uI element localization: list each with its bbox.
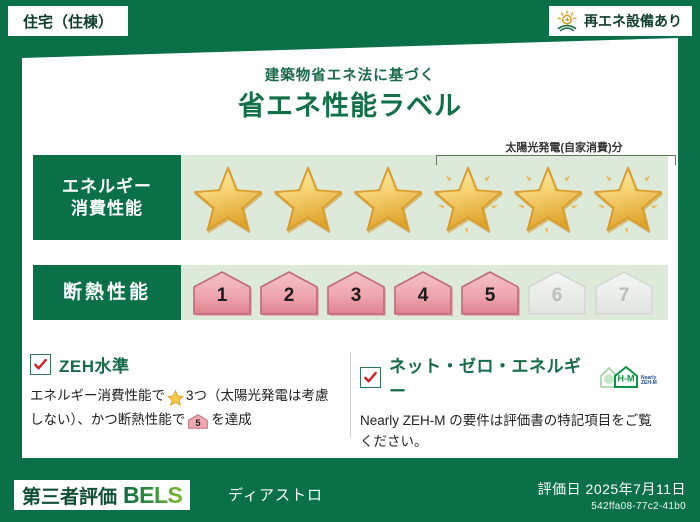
building-type-tag: 住宅（住棟）	[8, 6, 128, 36]
net-zero-heading: ネット・ゼロ・エネルギー	[389, 352, 588, 402]
insulation-level-house: 5	[457, 269, 523, 317]
zeh-standard-section: ZEH水準 エネルギー消費性能で 3つ（太陽光発電は考慮しない）、かつ断熱性能で…	[30, 352, 340, 434]
net-zero-heading-row: ネット・ゼロ・エネルギー H-M Nearly ZEH-M	[360, 352, 660, 402]
insulation-level-list: 1 2	[181, 265, 668, 320]
insulation-level-house: 4	[390, 269, 456, 317]
sun-icon	[555, 10, 579, 32]
zeh-m-logo-icon: H-M Nearly ZEH-M	[598, 364, 660, 390]
energy-label-line2: 消費性能	[71, 198, 143, 219]
check-icon	[33, 357, 48, 372]
insulation-level-house: 7	[591, 269, 657, 317]
insulation-levels-panel: 1 2	[181, 265, 668, 320]
third-party-label: 第三者評価	[22, 482, 117, 509]
energy-star	[349, 162, 427, 234]
energy-stars-panel: 太陽光発電(自家消費)分	[181, 155, 668, 240]
insulation-level-house: 2	[256, 269, 322, 317]
insulation-label-text: 断熱性能	[63, 281, 151, 305]
renewable-badge-label: 再エネ設備あり	[584, 11, 682, 31]
insulation-level-number: 1	[189, 286, 255, 305]
insulation-level-number: 3	[323, 286, 389, 305]
insulation-level-house: 6	[524, 269, 590, 317]
brand-name: ディアストロ	[228, 484, 323, 505]
evaluation-meta: 評価日 2025年7月11日 542ffa08-77c2-41b0	[538, 479, 686, 512]
zeh-desc-part1: エネルギー消費性能で	[30, 388, 165, 403]
energy-label-line1: エネルギー	[62, 176, 152, 197]
energy-star	[589, 162, 667, 234]
bels-footer-badge: 第三者評価 BELS	[14, 480, 190, 510]
energy-star-list	[181, 155, 668, 240]
net-zero-energy-section: ネット・ゼロ・エネルギー H-M Nearly ZEH-M Nearly ZEH…	[360, 352, 660, 453]
energy-star	[189, 162, 267, 234]
insulation-level-number: 6	[524, 286, 590, 305]
inline-star-icon	[166, 391, 185, 406]
net-zero-description: Nearly ZEH-M の要件は評価書の特記項目をご覧ください。	[360, 411, 660, 453]
zeh-heading: ZEH水準	[59, 352, 130, 377]
page-title: 省エネ性能ラベル	[0, 84, 700, 123]
svg-text:H-M: H-M	[618, 374, 635, 384]
zeh-heading-row: ZEH水準	[30, 352, 340, 377]
zeh-checkbox	[30, 354, 51, 375]
bels-logo-text: BELS	[123, 482, 182, 509]
insulation-level-house: 3	[323, 269, 389, 317]
energy-performance-row: エネルギー 消費性能 太陽光発電(自家消費)分	[33, 155, 668, 240]
insulation-performance-label: 断熱性能	[33, 265, 181, 320]
zeh-description: エネルギー消費性能で 3つ（太陽光発電は考慮しない）、かつ断熱性能で 5 を達成	[30, 386, 340, 434]
insulation-level-number: 2	[256, 286, 322, 305]
insulation-level-number: 4	[390, 286, 456, 305]
building-type-label: 住宅（住棟）	[23, 11, 113, 32]
net-zero-checkbox	[360, 367, 381, 388]
svg-text:5: 5	[196, 418, 201, 428]
column-divider	[350, 352, 351, 438]
energy-label-card: 住宅（住棟） 再エネ設備あり 建築物省エネ法に基づく 省エネ性能ラベル	[0, 0, 700, 522]
check-icon	[363, 370, 378, 385]
insulation-level-number: 7	[591, 286, 657, 305]
zeh-desc-part3: を達成	[211, 412, 252, 427]
energy-star	[429, 162, 507, 234]
insulation-level-house: 1	[189, 269, 255, 317]
renewable-energy-badge: 再エネ設備あり	[549, 6, 692, 36]
svg-text:ZEH-M: ZEH-M	[641, 380, 657, 386]
insulation-performance-row: 断熱性能 1	[33, 265, 668, 320]
label-subtitle: 建築物省エネ法に基づく	[0, 64, 700, 85]
energy-performance-label: エネルギー 消費性能	[33, 155, 181, 240]
energy-star	[509, 162, 587, 234]
energy-star	[269, 162, 347, 234]
inline-house-icon: 5	[186, 415, 210, 430]
solar-annotation-label: 太陽光発電(自家消費)分	[439, 139, 689, 155]
insulation-level-number: 5	[457, 286, 523, 305]
evaluation-uid: 542ffa08-77c2-41b0	[538, 501, 686, 512]
evaluation-date: 評価日 2025年7月11日	[538, 479, 686, 499]
